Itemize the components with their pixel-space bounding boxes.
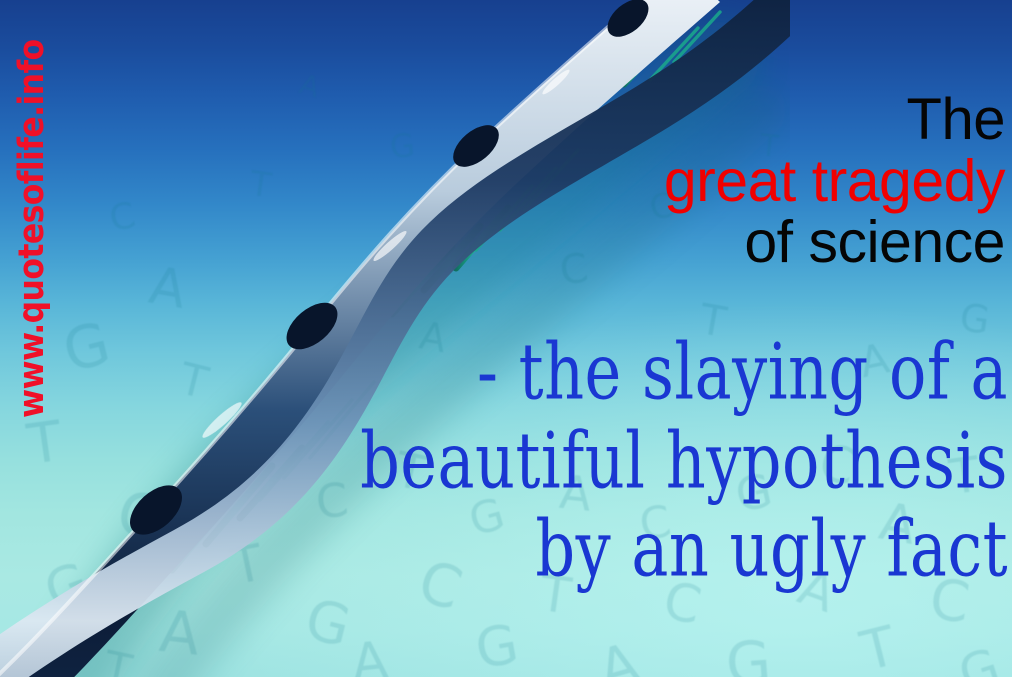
headline-line-3: of science	[365, 214, 1005, 272]
headline-line-1: The	[365, 92, 1005, 149]
nucleotide-letter-t: T	[856, 619, 901, 677]
nucleotide-letter-g: G	[953, 641, 1005, 677]
script-text-block: - the slaying of a beautiful hypothesis …	[248, 340, 1008, 584]
script-line-3: by an ugly fact	[271, 510, 1008, 591]
script-line-2: beautiful hypothesis	[271, 421, 1008, 502]
quote-poster: GATCGATGACGTACGATCGATCGACTGACTGACTGACTGA…	[0, 0, 1012, 677]
headline-text-block: The great tragedy of science	[365, 92, 1005, 271]
script-line-1: - the slaying of a	[271, 333, 1008, 414]
site-watermark: www.quotesoflife.info	[12, 0, 52, 418]
headline-line-2-emphasis: great tragedy	[365, 153, 1005, 211]
